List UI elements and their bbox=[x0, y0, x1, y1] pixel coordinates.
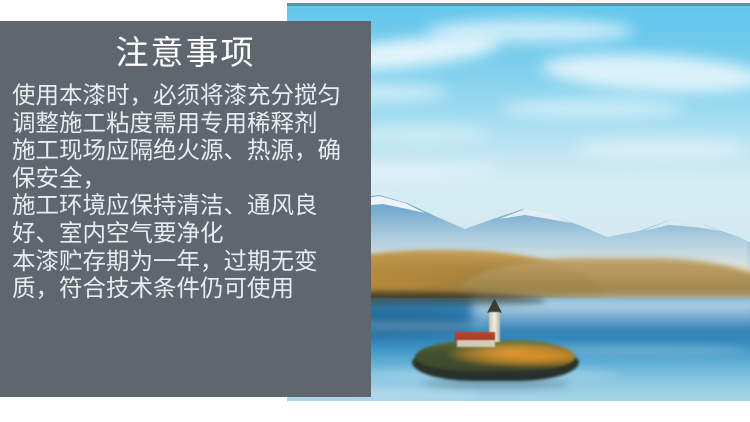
photo-top-edge bbox=[287, 3, 750, 6]
slide-canvas: 注意事项 使用本漆时，必须将漆充分搅匀 调整施工粘度需用专用稀释剂 施工现场应隔… bbox=[0, 0, 750, 422]
body-paragraph: 施工现场应隔绝火源、热源，确保安全， bbox=[12, 138, 362, 193]
panel-title: 注意事项 bbox=[0, 34, 371, 74]
body-paragraph: 施工环境应保持清洁、通风良好、室内空气要净化 bbox=[12, 193, 362, 248]
text-panel: 注意事项 使用本漆时，必须将漆充分搅匀 调整施工粘度需用专用稀释剂 施工现场应隔… bbox=[0, 21, 371, 397]
body-paragraph: 本漆贮存期为一年，过期无变质，符合技术条件仍可使用 bbox=[12, 249, 362, 304]
island-foliage bbox=[415, 340, 575, 372]
lake-island bbox=[412, 329, 579, 381]
body-paragraph: 使用本漆时，必须将漆充分搅匀 bbox=[12, 83, 362, 111]
panel-body: 使用本漆时，必须将漆充分搅匀 调整施工粘度需用专用稀释剂 施工现场应隔绝火源、热… bbox=[12, 83, 362, 304]
body-paragraph: 调整施工粘度需用专用稀释剂 bbox=[12, 111, 362, 139]
church-wall bbox=[457, 340, 495, 347]
